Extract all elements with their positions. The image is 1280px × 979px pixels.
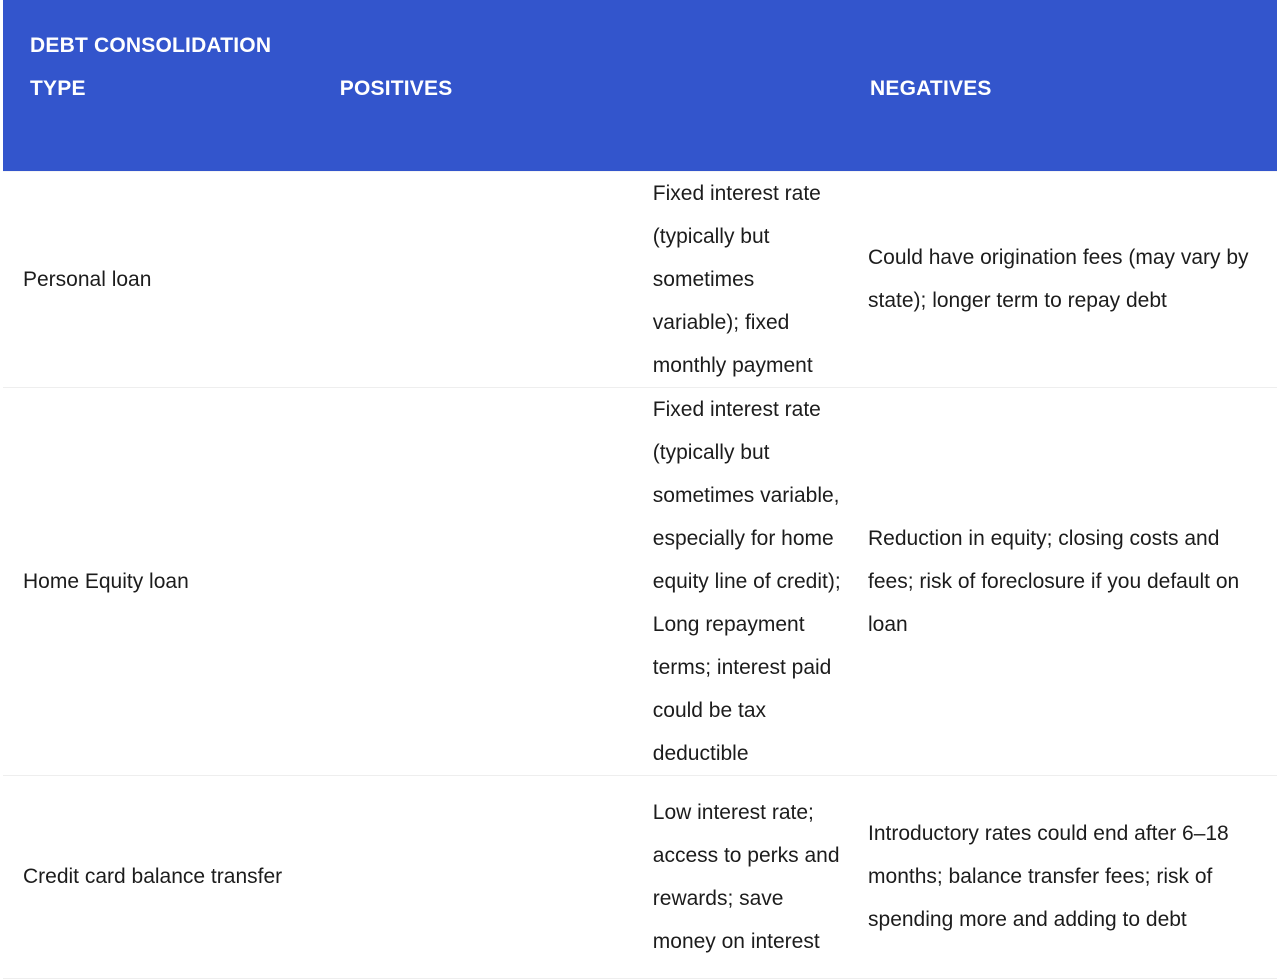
cell-positives: Fixed interest rate (typically but somet… [329,171,860,387]
table-row: Home Equity loan Fixed interest rate (ty… [3,387,1277,775]
cell-negatives: Reduction in equity; closing costs and f… [860,387,1277,775]
column-header-debt-consolidation-type: DEBT CONSOLIDATION TYPE [3,0,329,171]
comparison-table: DEBT CONSOLIDATION TYPE POSITIVES NEGATI… [3,0,1277,979]
cell-debt-type: Credit card balance transfer [3,775,329,978]
table-body: Personal loan Fixed interest rate (typic… [3,171,1277,978]
table-row: Personal loan Fixed interest rate (typic… [3,171,1277,387]
cell-debt-type: Personal loan [3,171,329,387]
table-row: Credit card balance transfer Low interes… [3,775,1277,978]
column-header-positives: POSITIVES [329,0,860,171]
cell-positives: Fixed interest rate (typically but somet… [329,387,860,775]
column-header-negatives: NEGATIVES [860,0,1277,171]
table-header: DEBT CONSOLIDATION TYPE POSITIVES NEGATI… [3,0,1277,171]
cell-positives: Low interest rate; access to perks and r… [329,775,860,978]
cell-negatives: Could have origination fees (may vary by… [860,171,1277,387]
cell-negatives: Introductory rates could end after 6–18 … [860,775,1277,978]
debt-consolidation-comparison: DEBT CONSOLIDATION TYPE POSITIVES NEGATI… [0,0,1280,798]
table-header-row: DEBT CONSOLIDATION TYPE POSITIVES NEGATI… [3,0,1277,171]
cell-debt-type: Home Equity loan [3,387,329,775]
